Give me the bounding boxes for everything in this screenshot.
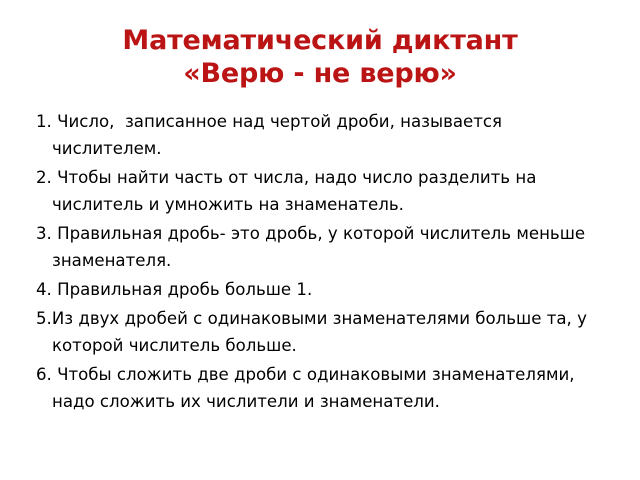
statement-list: 1. Число, записанное над чертой дроби, н… [36,108,610,417]
list-item: 2. Чтобы найти часть от числа, надо числ… [36,164,610,218]
slide: Математический диктант «Верю - не верю» … [0,0,640,480]
page-title: Математический диктант «Верю - не верю» [0,24,640,90]
list-item: 3. Правильная дробь- это дробь, у которо… [36,220,610,274]
list-item: 4. Правильная дробь больше 1. [36,276,610,303]
list-item: 5.Из двух дробей с одинаковыми знаменате… [36,305,610,359]
list-item: 6. Чтобы сложить две дроби с одинаковыми… [36,361,610,415]
list-item: 1. Число, записанное над чертой дроби, н… [36,108,610,162]
